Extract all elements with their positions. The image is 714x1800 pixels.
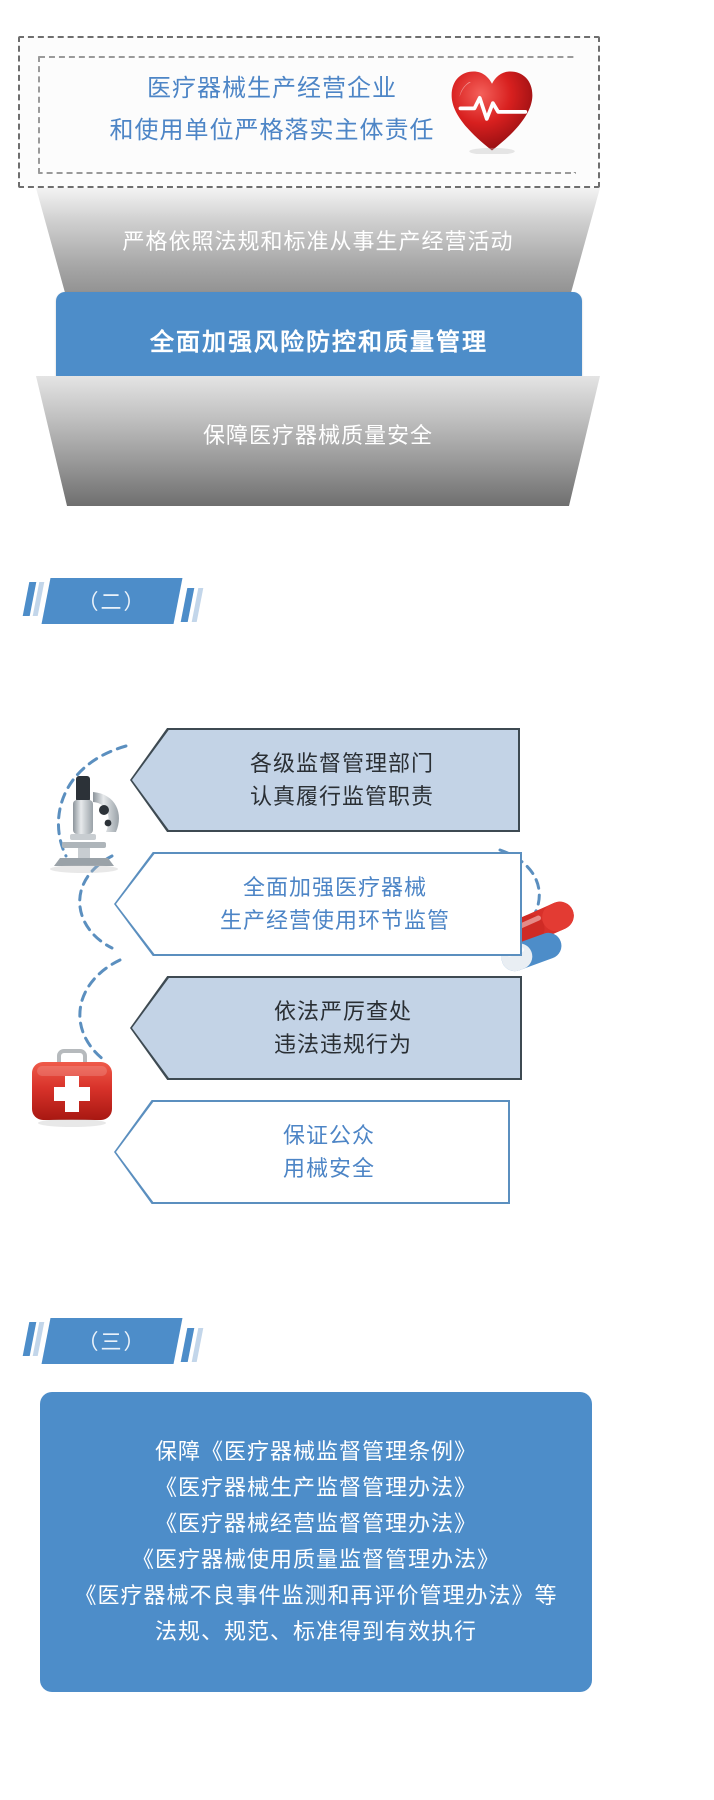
summary-card: 保障《医疗器械监督管理条例》 《医疗器械生产监督管理办法》 《医疗器械经营监督管… [40,1392,592,1692]
summary-line-5: 《医疗器械不良事件监测和再评价管理办法》等 [40,1578,592,1614]
funnel-stage-bottom-label: 保障医疗器械质量安全 [36,418,600,450]
step-hexagon-3-line-1: 依法严厉查处 [274,995,412,1028]
step-hexagon-1-text: 各级监督管理部门 认真履行监管职责 [170,728,514,832]
funnel-stage-top-label: 严格依照法规和标准从事生产经营活动 [36,224,600,256]
step-hexagon-4-text: 保证公众 用械安全 [154,1100,504,1204]
step-hexagon-2-line-1: 全面加强医疗器械 [243,871,427,904]
header-card-text: 医疗器械生产经营企业 和使用单位严格落实主体责任 [72,68,472,152]
step-hexagon-1-line-1: 各级监督管理部门 [250,747,434,780]
summary-line-6: 法规、规范、标准得到有效执行 [40,1614,592,1650]
section-one-funnel: 医疗器械生产经营企业 和使用单位严格落实主体责任 [18,36,600,514]
step-hexagon-3[interactable]: 依法严厉查处 违法违规行为 [130,976,522,1080]
step-hexagon-2[interactable]: 全面加强医疗器械 生产经营使用环节监管 [114,852,522,956]
step-hexagon-4[interactable]: 保证公众 用械安全 [114,1100,510,1204]
funnel-stage-bottom: 保障医疗器械质量安全 [36,376,600,506]
funnel-stage-middle: 全面加强风险防控和质量管理 [56,292,582,384]
step-hexagon-2-line-2: 生产经营使用环节监管 [220,904,450,937]
step-hexagon-3-text: 依法严厉查处 违法违规行为 [170,976,516,1080]
first-aid-kit-icon [26,1042,118,1130]
section-three-banner: （三） [18,1318,218,1364]
summary-line-2: 《医疗器械生产监督管理办法》 [40,1470,592,1506]
header-card-line-2: 和使用单位严格落实主体责任 [72,110,472,152]
step-hexagon-2-text: 全面加强医疗器械 生产经营使用环节监管 [154,852,516,956]
funnel-stage-top: 严格依照法规和标准从事生产经营活动 [36,188,600,300]
header-card-line-1: 医疗器械生产经营企业 [72,68,472,110]
step-hexagon-3-line-2: 违法违规行为 [274,1028,412,1061]
summary-line-4: 《医疗器械使用质量监督管理办法》 [40,1542,592,1578]
summary-line-1: 保障《医疗器械监督管理条例》 [40,1434,592,1470]
section-two-banner-label: （二） [46,578,178,624]
step-hexagon-4-line-1: 保证公众 [283,1119,375,1152]
step-hexagon-4-line-2: 用械安全 [283,1152,375,1185]
banner-right-stripe-2 [192,588,204,622]
heart-pulse-icon [448,68,536,154]
summary-line-3: 《医疗器械经营监督管理办法》 [40,1506,592,1542]
summary-card-text: 保障《医疗器械监督管理条例》 《医疗器械生产监督管理办法》 《医疗器械经营监督管… [40,1434,592,1650]
section-three-banner-label: （三） [46,1318,178,1364]
funnel-stage-middle-label: 全面加强风险防控和质量管理 [56,322,582,357]
header-card: 医疗器械生产经营企业 和使用单位严格落实主体责任 [18,36,600,188]
step-hexagon-1[interactable]: 各级监督管理部门 认真履行监管职责 [130,728,520,832]
section-two-banner: （二） [18,578,218,624]
step-hexagon-1-line-2: 认真履行监管职责 [250,780,434,813]
banner3-right-stripe-2 [192,1328,204,1362]
infographic-page: 医疗器械生产经营企业 和使用单位严格落实主体责任 [0,0,714,1800]
